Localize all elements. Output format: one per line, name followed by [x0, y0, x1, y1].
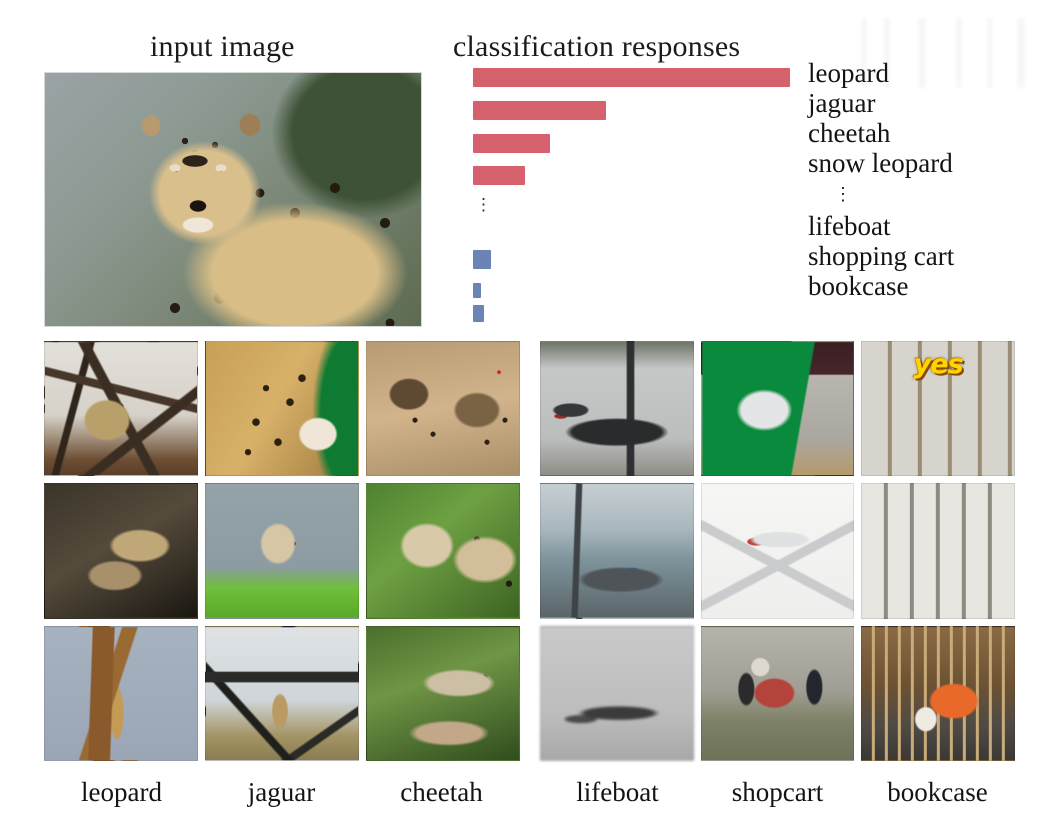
caption-lifeboat: lifeboat	[540, 777, 695, 808]
left-thumbnail-grid	[44, 341, 520, 761]
thumb-jaguar-3	[205, 626, 359, 761]
classification-bar-chart: ⋮	[473, 60, 803, 320]
chart-ellipsis: ⋮	[475, 202, 491, 207]
thumb-lifeboat-3	[540, 626, 694, 761]
caption-shopcart: shopcart	[700, 777, 855, 808]
thumb-lifeboat-1	[540, 341, 694, 476]
bar-cheetah	[473, 134, 550, 153]
thumb-bookcase-2	[861, 483, 1015, 618]
thumb-cheetah-1	[366, 341, 520, 476]
response-label-cheetah: cheetah	[808, 118, 1048, 148]
thumb-bookcase-3	[861, 626, 1015, 761]
bar-shopping-cart	[473, 283, 481, 298]
yes-overlay-text: yes	[914, 349, 963, 380]
response-label-leopard: leopard	[808, 58, 1048, 88]
thumb-leopard-2	[44, 483, 198, 618]
page-title-input-image: input image	[150, 30, 295, 64]
response-label-bookcase: bookcase	[808, 271, 1048, 301]
thumb-leopard-1	[44, 341, 198, 476]
thumb-jaguar-2	[205, 483, 359, 618]
classification-response-labels: leopard jaguar cheetah snow leopard ⋮ li…	[808, 58, 1048, 301]
caption-jaguar: jaguar	[204, 777, 359, 808]
thumb-cheetah-2	[366, 483, 520, 618]
bar-jaguar	[473, 101, 606, 120]
thumb-jaguar-1	[205, 341, 359, 476]
bar-bookcase	[473, 305, 484, 322]
response-label-lifeboat: lifeboat	[808, 211, 1048, 241]
right-thumbnail-grid: yes	[540, 341, 1015, 761]
response-label-snow-leopard: snow leopard	[808, 148, 1048, 178]
bar-leopard	[473, 68, 790, 87]
bar-snow-leopard	[473, 166, 525, 185]
thumb-shopcart-2	[701, 483, 855, 618]
input-image-photo	[44, 72, 422, 327]
thumb-lifeboat-2	[540, 483, 694, 618]
response-label-shopping-cart: shopping cart	[808, 241, 1048, 271]
caption-bookcase: bookcase	[860, 777, 1015, 808]
bar-lifeboat	[473, 250, 491, 269]
thumb-bookcase-1: yes	[861, 341, 1015, 476]
thumb-leopard-3	[44, 626, 198, 761]
response-labels-ellipsis: ⋮	[808, 181, 878, 207]
page-title-classification-responses: classification responses	[453, 30, 740, 64]
figure-root: input image classification responses ⋮ l…	[0, 0, 1050, 837]
response-label-jaguar: jaguar	[808, 88, 1048, 118]
thumb-cheetah-3	[366, 626, 520, 761]
caption-leopard: leopard	[44, 777, 199, 808]
thumb-shopcart-1	[701, 341, 855, 476]
thumb-shopcart-3	[701, 626, 855, 761]
caption-cheetah: cheetah	[364, 777, 519, 808]
